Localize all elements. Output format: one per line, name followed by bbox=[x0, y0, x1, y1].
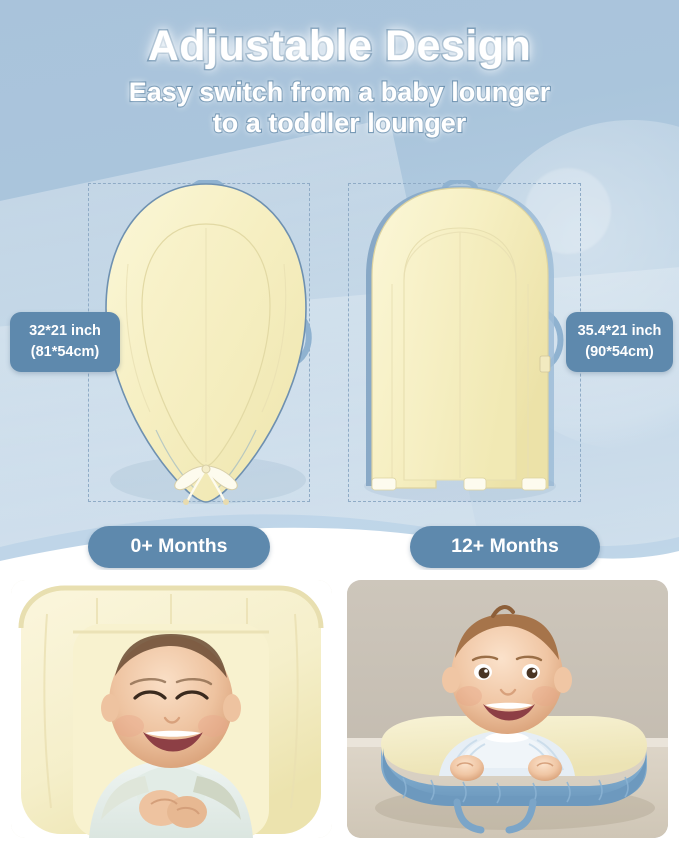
page-subtitle-line-2: to a toddler lounger bbox=[0, 108, 679, 139]
diagram-panel: Adjustable Design Easy switch from a bab… bbox=[0, 0, 679, 570]
size-label-right-inch: 35.4*21 inch bbox=[576, 321, 663, 342]
size-label-right: 35.4*21 inch (90*54cm) bbox=[566, 312, 673, 372]
toddler-lounger-open-illustration bbox=[348, 180, 572, 505]
size-label-left: 32*21 inch (81*54cm) bbox=[10, 312, 120, 372]
page-title: Adjustable Design bbox=[0, 22, 679, 71]
heading-group: Adjustable Design Easy switch from a bab… bbox=[0, 0, 679, 138]
baby-lounger-closed-illustration bbox=[98, 180, 314, 505]
size-label-right-cm: (90*54cm) bbox=[576, 342, 663, 363]
page-subtitle-line-1: Easy switch from a baby lounger bbox=[0, 77, 679, 108]
size-label-left-inch: 32*21 inch bbox=[20, 321, 110, 342]
size-label-left-cm: (81*54cm) bbox=[20, 342, 110, 363]
photo-toddler-on-lounger bbox=[347, 580, 668, 838]
photo-baby-in-lounger bbox=[11, 580, 332, 838]
photo-panel bbox=[0, 570, 679, 849]
page-subtitle: Easy switch from a baby lounger to a tod… bbox=[0, 77, 679, 138]
age-badge-0-months: 0+ Months bbox=[88, 526, 270, 568]
side-clip-icon bbox=[540, 356, 550, 372]
age-badge-12-months: 12+ Months bbox=[410, 526, 600, 568]
